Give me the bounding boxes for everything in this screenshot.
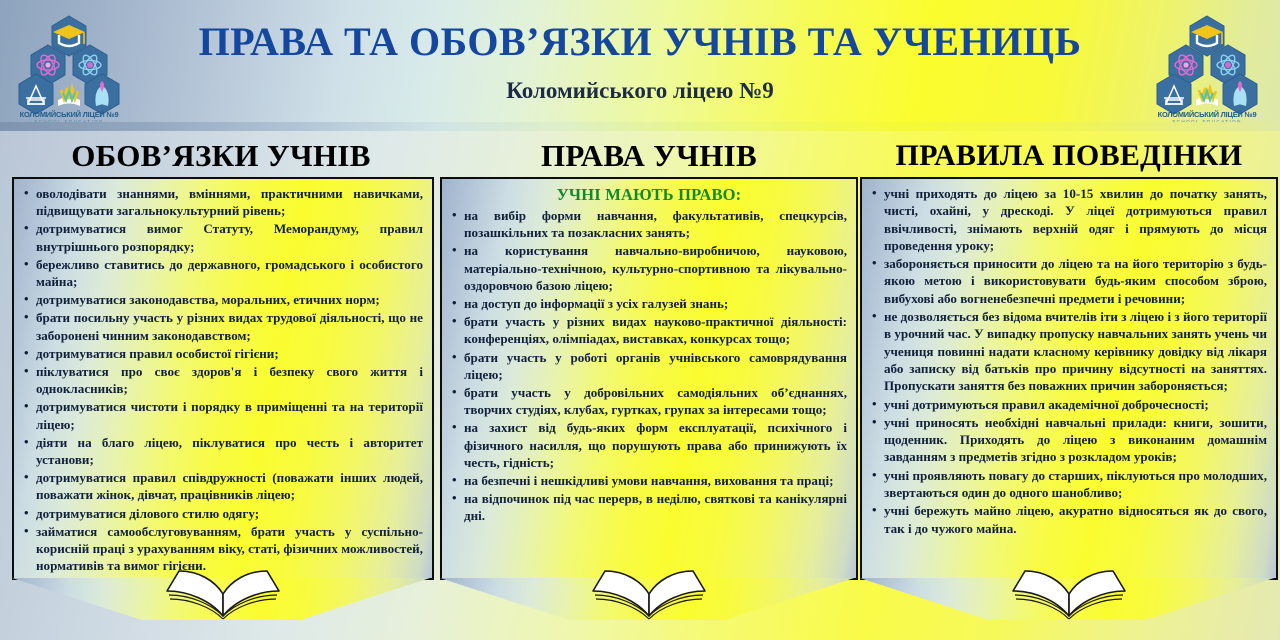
conduct-list: учні приходять до ліцею за 10-15 хвилин …	[871, 185, 1267, 537]
school-logo-left: КОЛОМИЙСЬКИЙ ЛІЦЕЙ №9 SCHOOL EDUCATION	[10, 8, 128, 124]
column-heading-duties: ОБОВ’ЯЗКИ УЧНІВ	[6, 136, 436, 176]
poster-header: КОЛОМИЙСЬКИЙ ЛІЦЕЙ №9 SCHOOL EDUCATION П…	[0, 0, 1280, 131]
list-item: на безпечні і нешкідливі умови навчання,…	[451, 472, 847, 489]
list-item: не дозволяється без відома вчителів іти …	[871, 308, 1267, 394]
list-item: піклуватися про своє здоров'я і безпеку …	[23, 363, 423, 397]
list-item: учні проявляють повагу до старших, піклу…	[871, 467, 1267, 502]
panel-conduct: учні приходять до ліцею за 10-15 хвилин …	[860, 177, 1278, 580]
rights-list: на вибір форми навчання, факультативів, …	[451, 207, 847, 525]
header-bottom-strip	[0, 122, 1280, 131]
column-heading-rights: ПРАВА УЧНІВ	[440, 136, 858, 176]
list-item: брати участь у добровільних самодіяльних…	[451, 384, 847, 418]
list-item: на вибір форми навчання, факультативів, …	[451, 207, 847, 241]
list-item: дотримуватися правил особистої гігієни;	[23, 345, 423, 362]
list-item: дотримуватися чистоти і порядку в приміщ…	[23, 398, 423, 432]
list-item: забороняється приносити до ліцею та на й…	[871, 255, 1267, 307]
school-logo-right: КОЛОМИЙСЬКИЙ ЛІЦЕЙ №9 SCHOOL EDUCATION	[1148, 8, 1266, 124]
svg-text:КОЛОМИЙСЬКИЙ ЛІЦЕЙ №9: КОЛОМИЙСЬКИЙ ЛІЦЕЙ №9	[20, 110, 119, 119]
list-item: брати участь у роботі органів учнівськог…	[451, 349, 847, 383]
column-heading-conduct: ПРАВИЛА ПОВЕДІНКИ	[860, 136, 1278, 176]
list-item: учні дотримуються правил академічної доб…	[871, 396, 1267, 413]
list-item: оволодівати знаннями, вміннями, практичн…	[23, 185, 423, 219]
list-item: на користування навчально-виробничою, на…	[451, 242, 847, 294]
list-item: займатися самообслуговуванням, брати уча…	[23, 523, 423, 575]
list-item: брати посильну участь у різних видах тру…	[23, 309, 423, 343]
open-book-logo-icon	[1196, 88, 1218, 106]
list-item: дотримуватися ділового стилю одягу;	[23, 505, 423, 522]
open-book-logo-icon	[58, 88, 80, 106]
panel-duties: оволодівати знаннями, вміннями, практичн…	[12, 177, 434, 580]
panel-rights: УЧНІ МАЮТЬ ПРАВО: на вибір форми навчанн…	[440, 177, 858, 580]
list-item: дотримуватися законодавства, моральних, …	[23, 291, 423, 308]
svg-text:КОЛОМИЙСЬКИЙ ЛІЦЕЙ №9: КОЛОМИЙСЬКИЙ ЛІЦЕЙ №9	[1158, 110, 1257, 119]
list-item: на захист від будь-яких форм експлуатаці…	[451, 419, 847, 471]
list-item: дотримуватися вимог Статуту, Меморандуму…	[23, 220, 423, 254]
list-item: на відпочинок під час перерв, в неділю, …	[451, 490, 847, 524]
rights-subheading: УЧНІ МАЮТЬ ПРАВО:	[451, 185, 847, 205]
list-item: учні приходять до ліцею за 10-15 хвилин …	[871, 185, 1267, 254]
list-item: бережливо ставитись до державного, грома…	[23, 256, 423, 290]
list-item: дотримуватися правил співдружності (пова…	[23, 469, 423, 503]
duties-list: оволодівати знаннями, вміннями, практичн…	[23, 185, 423, 574]
page-title: ПРАВА ТА ОБОВ’ЯЗКИ УЧНІВ ТА УЧЕНИЦЬ	[150, 18, 1130, 65]
list-item: на доступ до інформації з усіх галузей з…	[451, 295, 847, 312]
page-subtitle: Коломийського ліцею №9	[150, 78, 1130, 104]
list-item: учні приносять необхідні навчальні прила…	[871, 414, 1267, 466]
list-item: діяти на благо ліцею, піклуватися про че…	[23, 434, 423, 468]
list-item: брати участь у різних видах науково-прак…	[451, 313, 847, 347]
list-item: учні бережуть майно ліцею, акуратно відн…	[871, 502, 1267, 537]
